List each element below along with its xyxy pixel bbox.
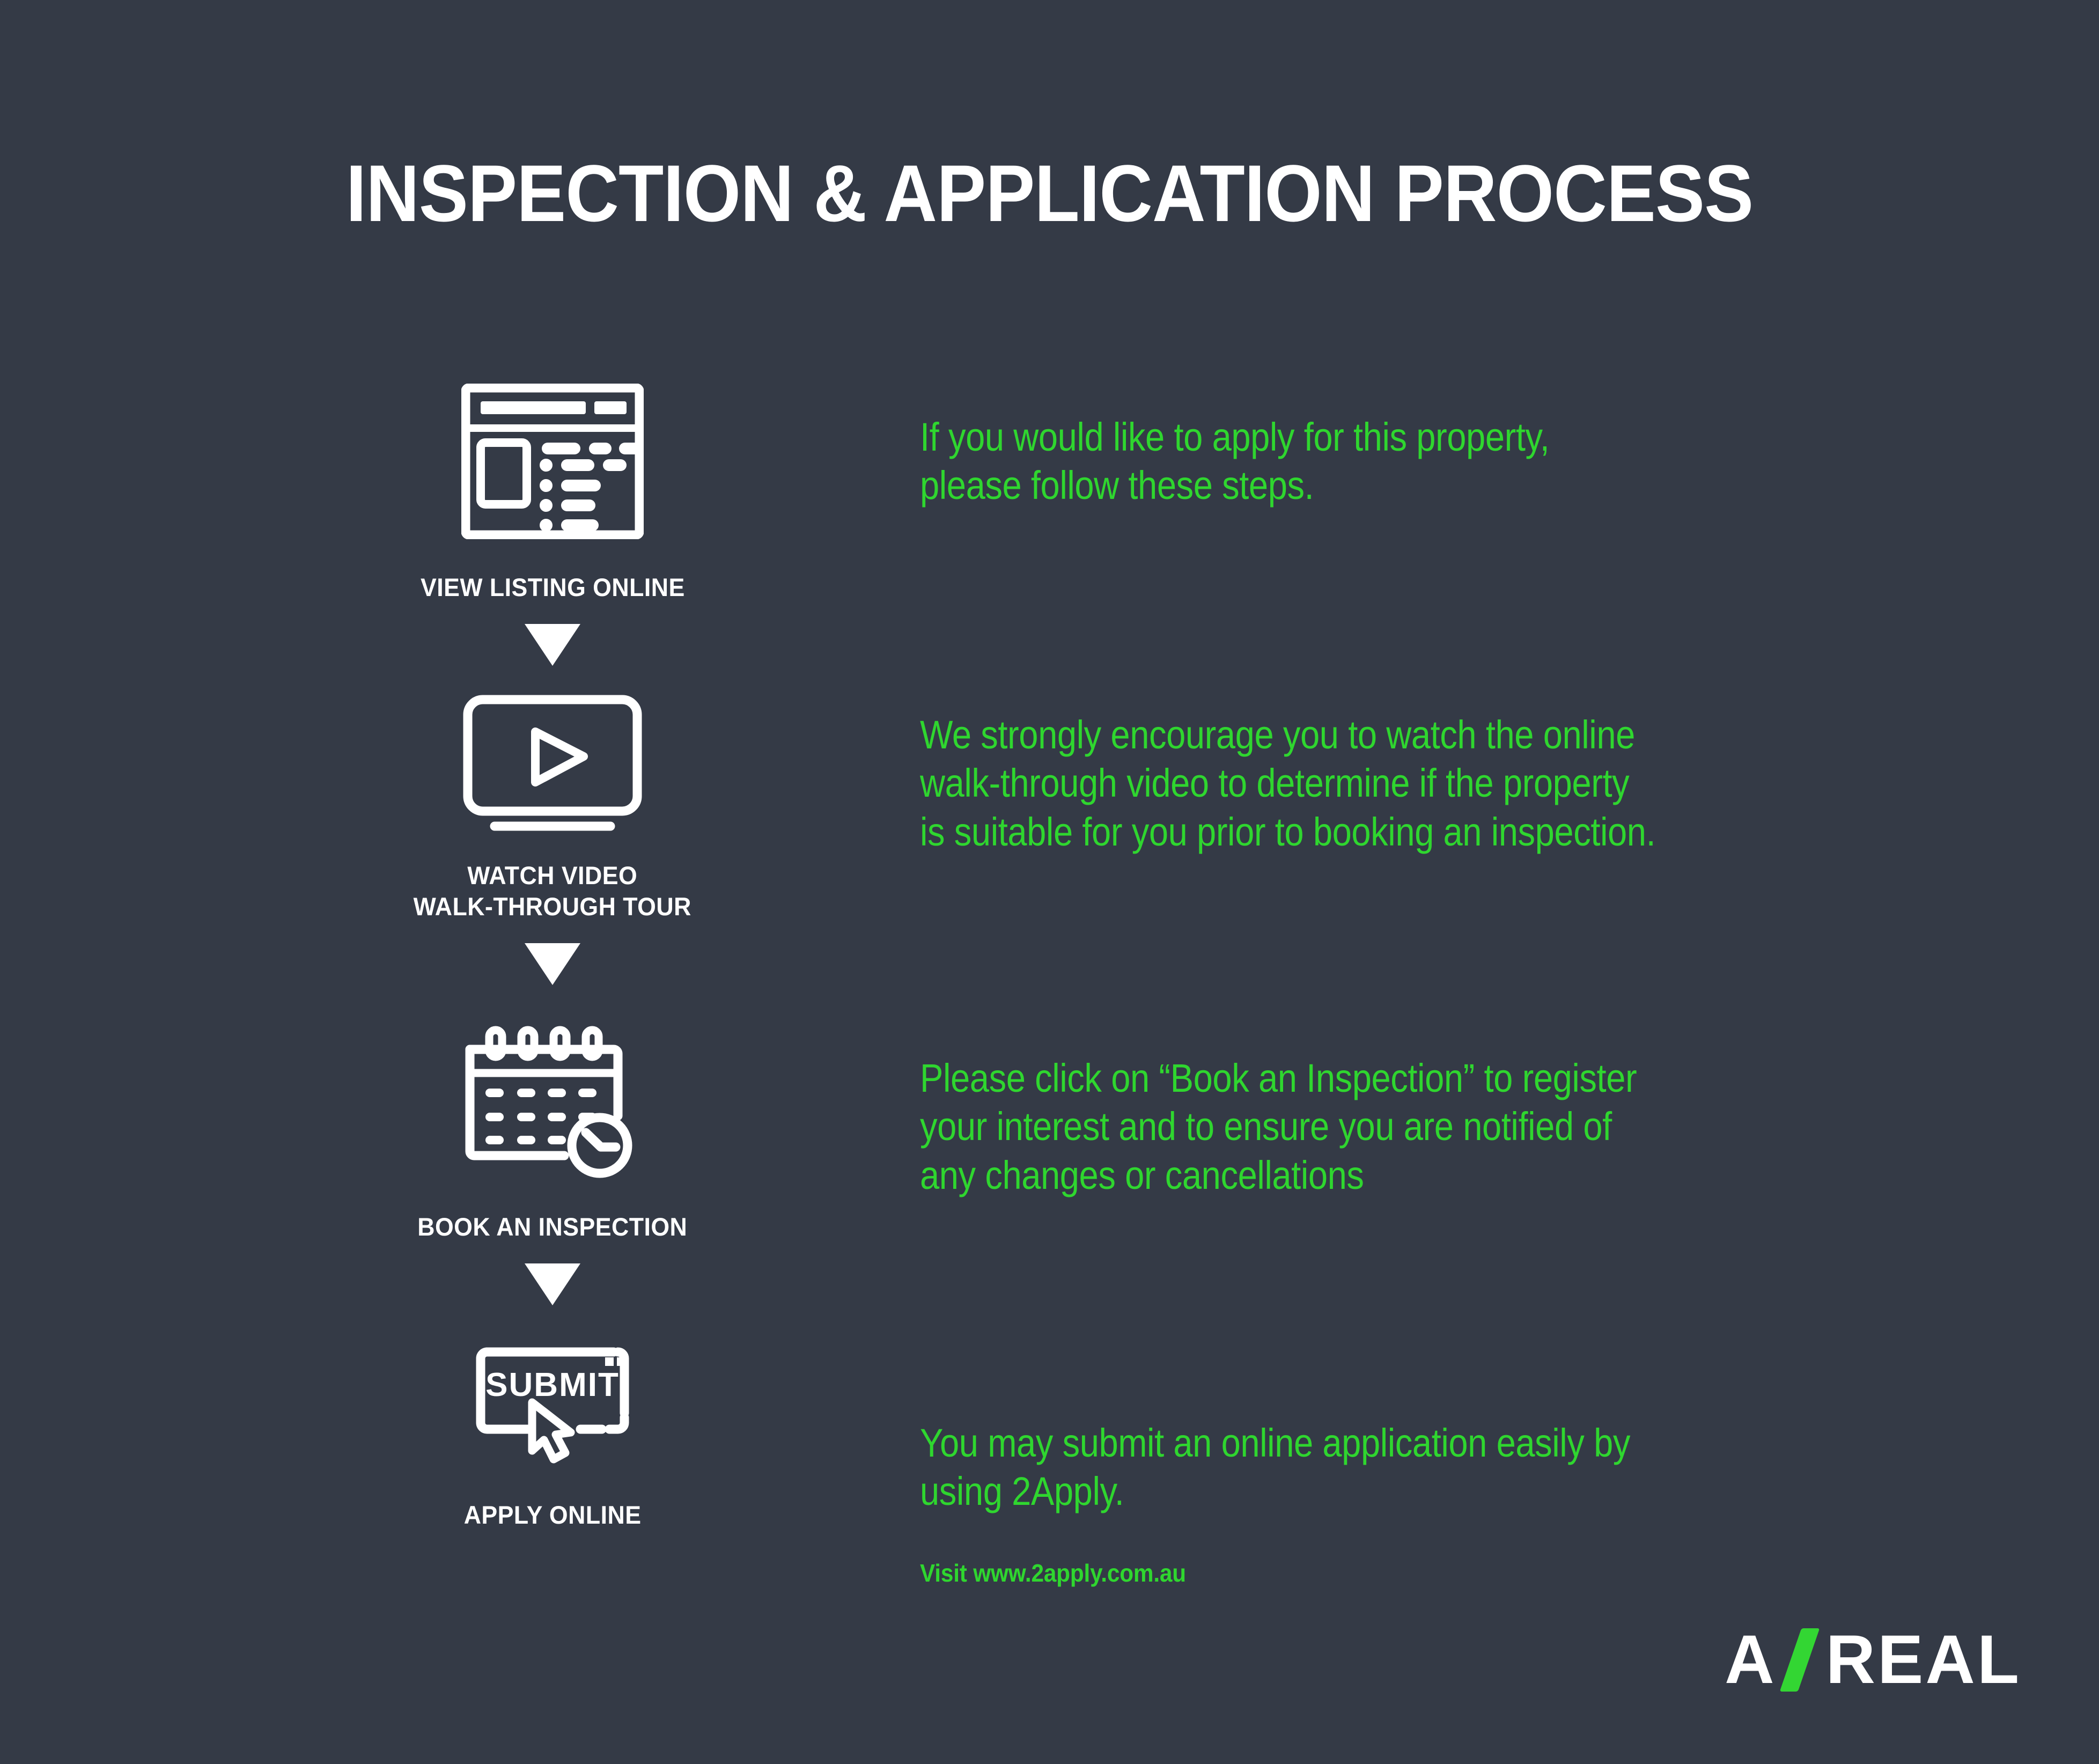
triangle-down-icon: [525, 1263, 580, 1305]
flow-step-view-listing[interactable]: VIEW LISTING ONLINE: [333, 365, 772, 602]
triangle-down-icon: [525, 943, 580, 985]
flow-step-label: BOOK AN INSPECTION: [417, 1211, 687, 1242]
submit-button-cursor-icon: SUBMIT: [456, 1338, 649, 1472]
process-flow: VIEW LISTING ONLINE WATCH VIDEO WALK-THR…: [333, 365, 772, 1531]
browser-listing-icon-wrap: [461, 365, 644, 558]
slash-icon: [1779, 1628, 1820, 1692]
logo-word-real: REAL: [1826, 1626, 2021, 1694]
flow-step-apply-online[interactable]: SUBMIT APPLY ONLINE: [333, 1325, 772, 1530]
calendar-clock-icon-wrap: [461, 1004, 644, 1197]
flow-step-label: APPLY ONLINE: [464, 1500, 642, 1530]
submit-button-cursor-icon-wrap: SUBMIT: [456, 1325, 649, 1486]
flow-step-watch-video[interactable]: WATCH VIDEO WALK-THROUGH TOUR: [333, 685, 772, 922]
video-play-screen-icon: [461, 693, 644, 838]
calendar-clock-icon: [461, 1020, 644, 1181]
logo-letter-a: A: [1725, 1626, 1776, 1694]
browser-listing-icon: [461, 384, 644, 539]
brand-logo[interactable]: A REAL: [1725, 1626, 2021, 1694]
page-title: INSPECTION & APPLICATION PROCESS: [84, 153, 2015, 233]
instruction-block-2: We strongly encourage you to watch the o…: [920, 711, 1655, 856]
instruction-block-1: If you would like to apply for this prop…: [920, 413, 1549, 510]
instruction-block-4: You may submit an online application eas…: [920, 1419, 1630, 1516]
flow-step-label: WATCH VIDEO WALK-THROUGH TOUR: [414, 860, 691, 922]
triangle-down-icon: [525, 624, 580, 666]
flow-step-label: VIEW LISTING ONLINE: [421, 572, 685, 602]
submit-icon-text: SUBMIT: [485, 1366, 620, 1403]
flow-step-book-inspection[interactable]: BOOK AN INSPECTION: [333, 1004, 772, 1242]
visit-url-link[interactable]: Visit www.2apply.com.au: [920, 1559, 1186, 1587]
video-play-screen-icon-wrap: [461, 685, 644, 846]
instruction-block-3: Please click on “Book an Inspection” to …: [920, 1054, 1637, 1200]
infographic-page: INSPECTION & APPLICATION PROCESS: [0, 0, 2099, 1764]
